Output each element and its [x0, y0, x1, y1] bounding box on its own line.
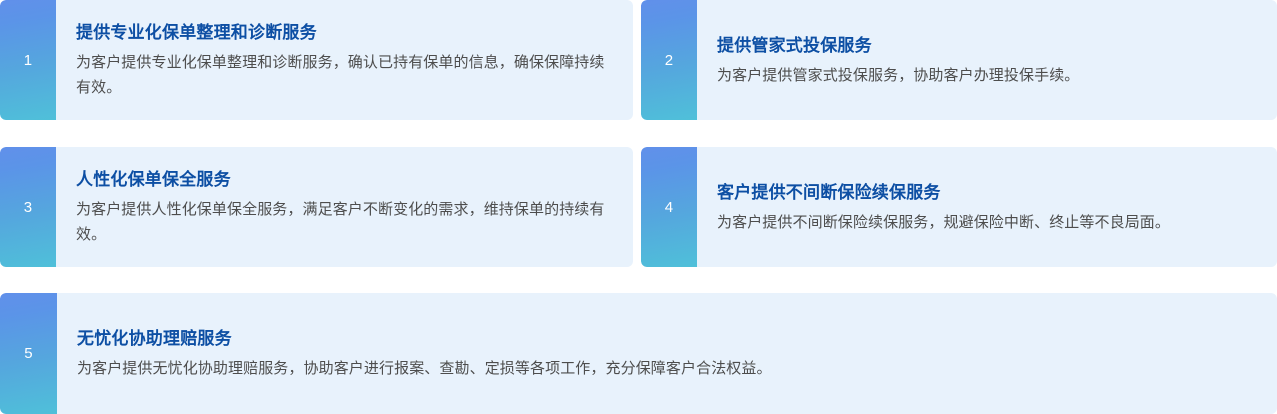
- step-number-badge-4: 4: [641, 147, 697, 267]
- diagram-row-1: 1 提供专业化保单整理和诊断服务 为客户提供专业化保单整理和诊断服务，确认已持有…: [0, 0, 1277, 120]
- service-card-3[interactable]: 3 人性化保单保全服务 为客户提供人性化保单保全服务，满足客户不断变化的需求，维…: [0, 147, 633, 267]
- service-card-1[interactable]: 1 提供专业化保单整理和诊断服务 为客户提供专业化保单整理和诊断服务，确认已持有…: [0, 0, 633, 120]
- service-card-body-3: 人性化保单保全服务 为客户提供人性化保单保全服务，满足客户不断变化的需求，维持保…: [56, 147, 633, 267]
- service-card-body-1: 提供专业化保单整理和诊断服务 为客户提供专业化保单整理和诊断服务，确认已持有保单…: [56, 0, 633, 120]
- service-card-title-5: 无忧化协助理赔服务: [77, 326, 1259, 352]
- service-card-title-3: 人性化保单保全服务: [76, 167, 615, 193]
- diagram-row-2: 3 人性化保单保全服务 为客户提供人性化保单保全服务，满足客户不断变化的需求，维…: [0, 147, 1277, 267]
- service-card-description-4: 为客户提供不间断保险续保服务，规避保险中断、终止等不良局面。: [717, 210, 1259, 235]
- step-number-badge-5: 5: [0, 293, 57, 414]
- service-card-description-5: 为客户提供无忧化协助理赔服务，协助客户进行报案、查勘、定损等各项工作，充分保障客…: [77, 356, 1227, 381]
- service-card-body-5: 无忧化协助理赔服务 为客户提供无忧化协助理赔服务，协助客户进行报案、查勘、定损等…: [57, 293, 1277, 414]
- step-number-badge-1: 1: [0, 0, 56, 120]
- service-card-body-4: 客户提供不间断保险续保服务 为客户提供不间断保险续保服务，规避保险中断、终止等不…: [697, 147, 1277, 267]
- step-number-2: 2: [665, 52, 674, 69]
- service-card-description-3: 为客户提供人性化保单保全服务，满足客户不断变化的需求，维持保单的持续有效。: [76, 197, 615, 247]
- service-card-title-1: 提供专业化保单整理和诊断服务: [76, 20, 615, 46]
- service-card-5[interactable]: 5 无忧化协助理赔服务 为客户提供无忧化协助理赔服务，协助客户进行报案、查勘、定…: [0, 293, 1277, 414]
- step-number-badge-3: 3: [0, 147, 56, 267]
- service-card-description-2: 为客户提供管家式投保服务，协助客户办理投保手续。: [717, 63, 1259, 88]
- step-number-1: 1: [24, 52, 33, 69]
- diagram-row-3: 5 无忧化协助理赔服务 为客户提供无忧化协助理赔服务，协助客户进行报案、查勘、定…: [0, 293, 1277, 414]
- service-card-description-1: 为客户提供专业化保单整理和诊断服务，确认已持有保单的信息，确保保障持续有效。: [76, 50, 615, 100]
- service-card-title-2: 提供管家式投保服务: [717, 33, 1259, 59]
- step-number-badge-2: 2: [641, 0, 697, 120]
- step-number-4: 4: [665, 199, 674, 216]
- service-card-4[interactable]: 4 客户提供不间断保险续保服务 为客户提供不间断保险续保服务，规避保险中断、终止…: [641, 147, 1277, 267]
- service-card-title-4: 客户提供不间断保险续保服务: [717, 180, 1259, 206]
- step-number-5: 5: [24, 345, 33, 362]
- service-card-2[interactable]: 2 提供管家式投保服务 为客户提供管家式投保服务，协助客户办理投保手续。: [641, 0, 1277, 120]
- service-card-body-2: 提供管家式投保服务 为客户提供管家式投保服务，协助客户办理投保手续。: [697, 0, 1277, 120]
- service-steps-diagram: 1 提供专业化保单整理和诊断服务 为客户提供专业化保单整理和诊断服务，确认已持有…: [0, 0, 1277, 414]
- step-number-3: 3: [24, 199, 33, 216]
